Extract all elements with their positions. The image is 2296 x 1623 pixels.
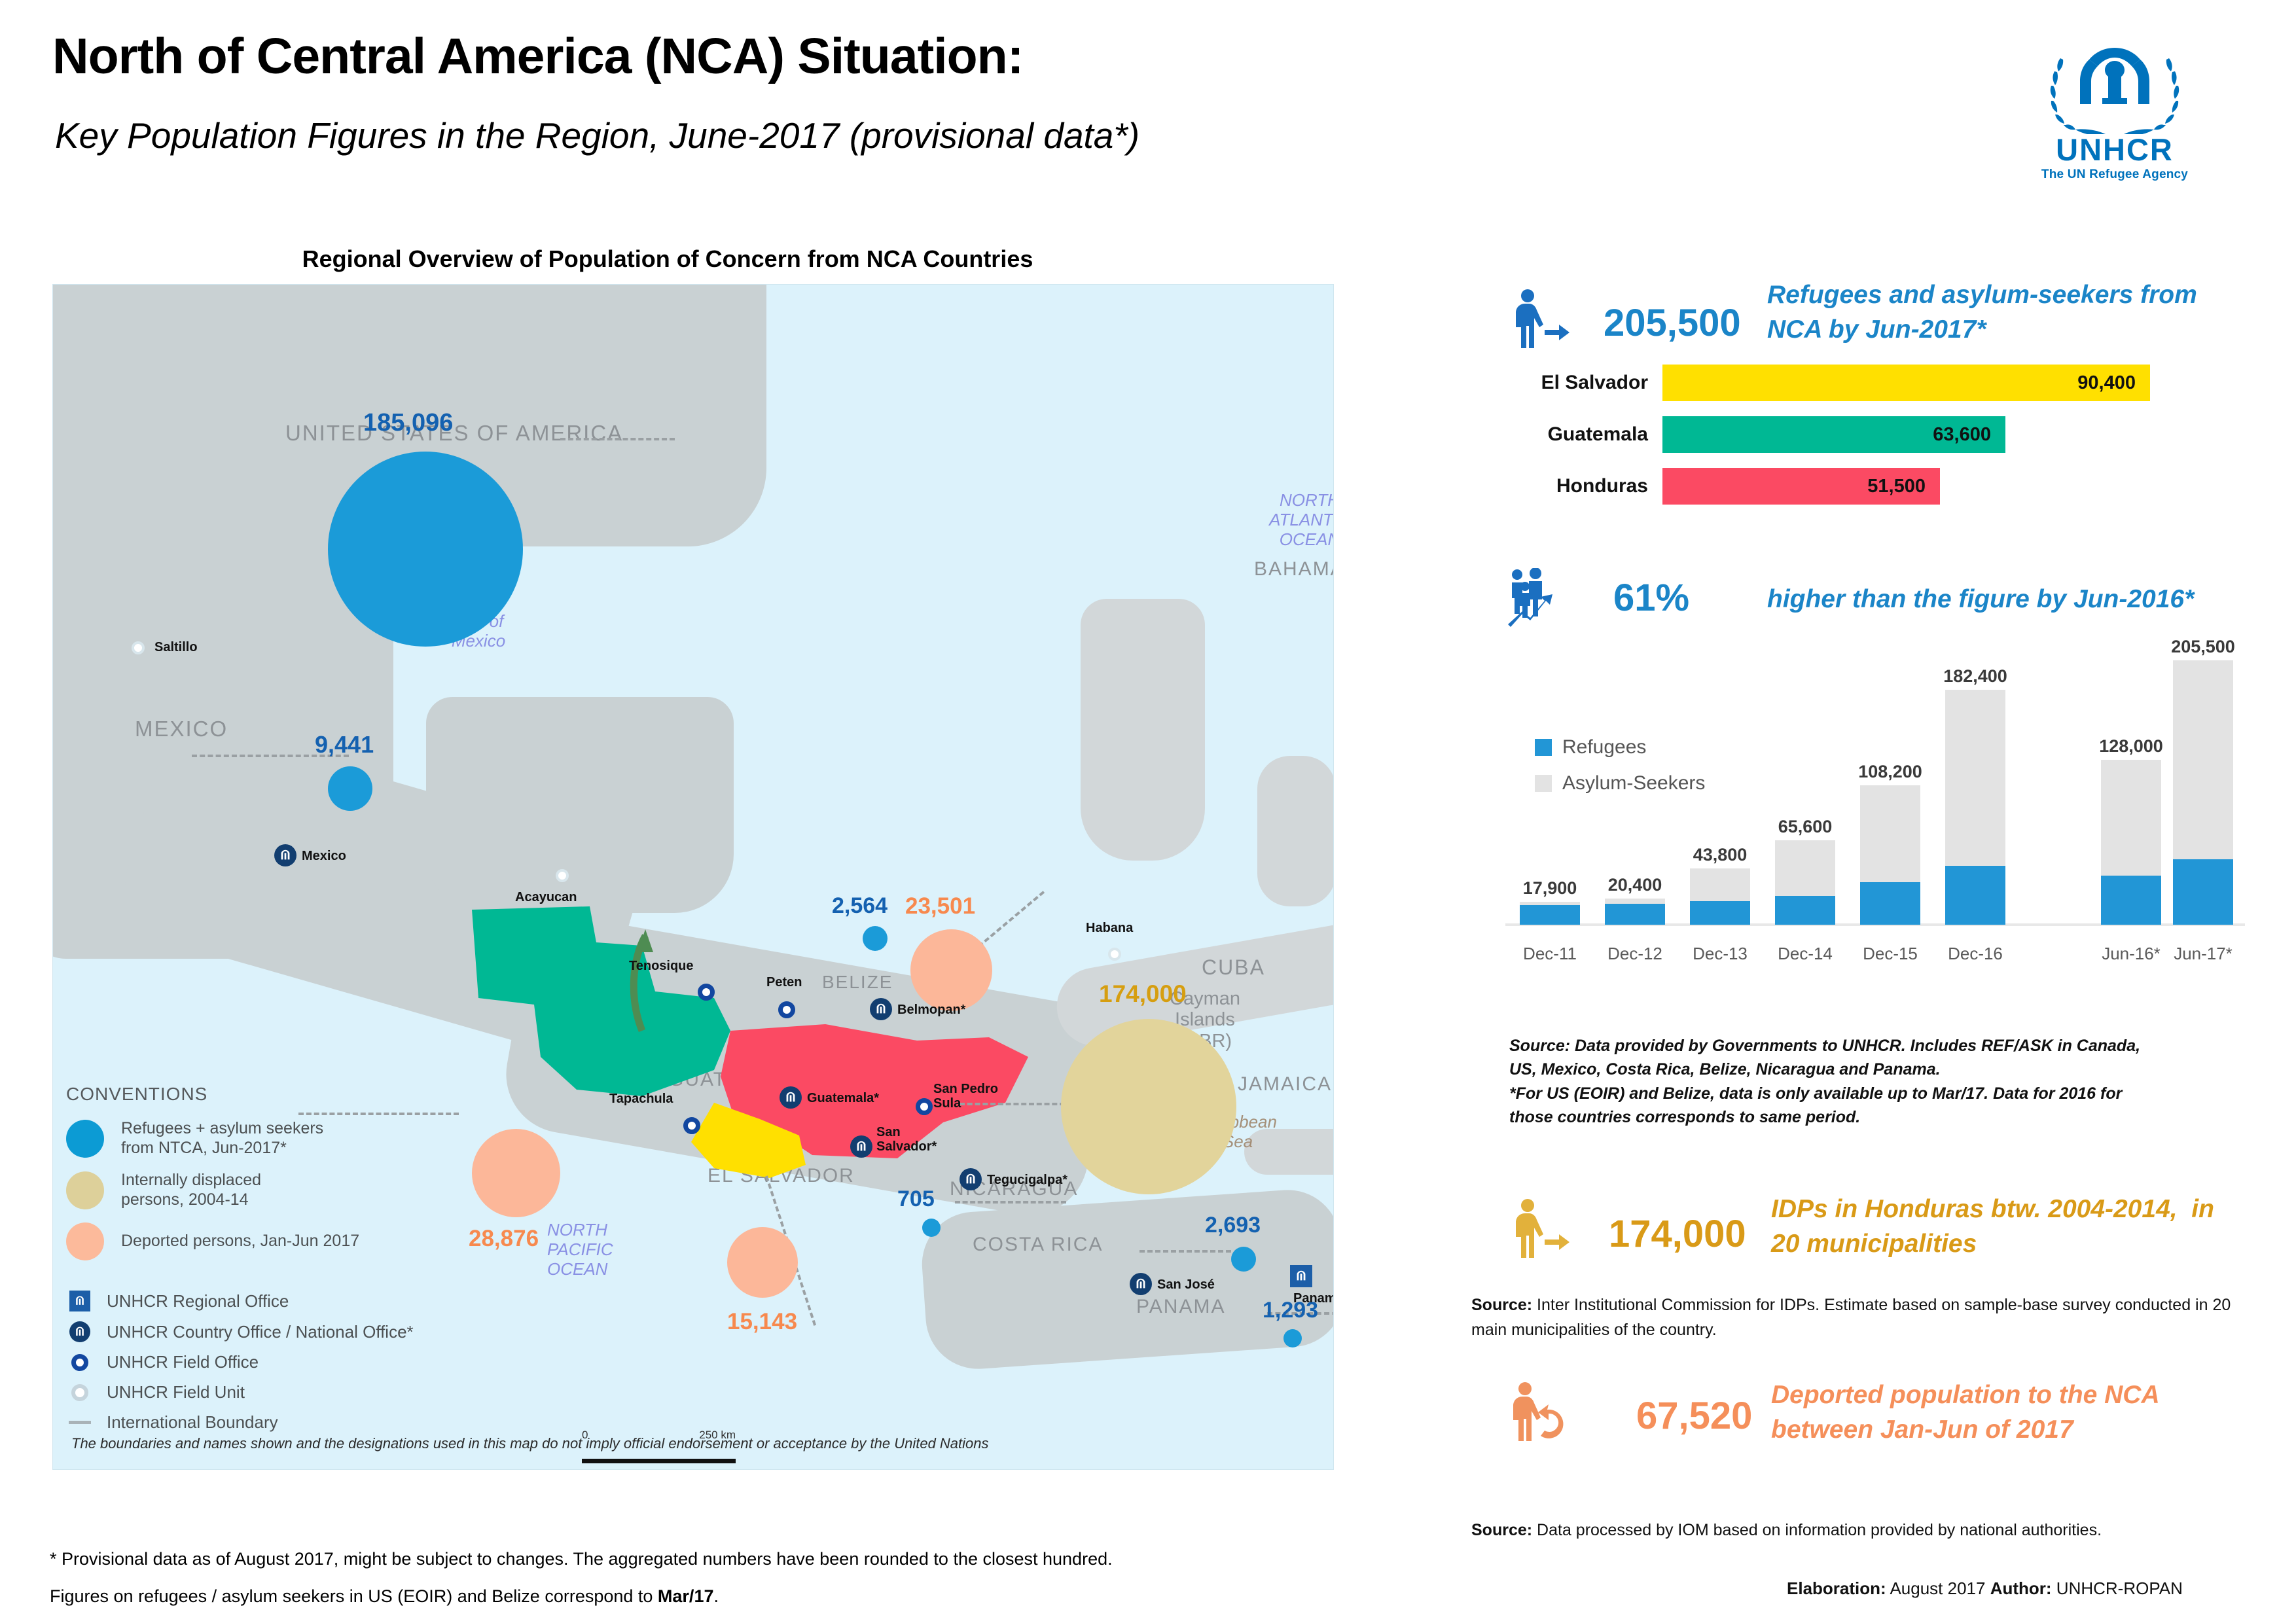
footnote-mar17-c: . [713, 1586, 719, 1606]
chart-value-dec15: 108,200 [1825, 762, 1956, 782]
legend-item-boundary: International Boundary [66, 1412, 564, 1433]
city-label-peten: Peten [766, 975, 802, 990]
country-bar-value-guatemala: 63,600 [1933, 424, 1991, 446]
chart-segment-refugees-dec14 [1775, 896, 1835, 925]
legend-title: CONVENTIONS [66, 1084, 564, 1105]
chart-xtick-dec11: Dec-11 [1501, 944, 1599, 964]
unhcr-mark-icon [874, 1002, 888, 1016]
walking-person-arrow-icon [1505, 1198, 1571, 1260]
unhcr-logo: UNHCR The UN Refugee Agency [2026, 36, 2203, 177]
legend-label-refugees: Refugees + asylum seekersfrom NTCA, Jun-… [121, 1119, 323, 1158]
kpi-idp-text: IDPs in Honduras btw. 2004-2014, in20 mu… [1771, 1192, 2282, 1261]
chart-xtick-dec14: Dec-14 [1756, 944, 1854, 964]
leader-line-costarica [1139, 1250, 1231, 1253]
footnote-mar17-b: Mar/17 [658, 1586, 714, 1606]
country-bar-value-elsalvador: 90,400 [2077, 372, 2136, 394]
logo-wordmark: UNHCR [2026, 134, 2203, 165]
field-unit-marker-acayucan[interactable] [556, 869, 569, 882]
legend-label-refugees-series: Refugees [1562, 736, 1646, 758]
field-office-marker-peten[interactable] [778, 1001, 795, 1018]
country-office-marker-tegucigalpa[interactable] [960, 1168, 982, 1190]
country-office-icon [66, 1321, 94, 1342]
kpi-idp-value: 174,000 [1609, 1212, 1746, 1256]
chart-legend-refugees: Refugees [1535, 736, 1646, 758]
family-growth-arrow-icon [1504, 568, 1576, 633]
chart-column-dec16[interactable]: 182,400 [1945, 690, 2005, 925]
chart-segment-asylum-dec12 [1605, 899, 1665, 904]
map-disclaimer: The boundaries and names shown and the d… [71, 1435, 989, 1452]
kpi-idp-source: Source: Inter Institutional Commission f… [1471, 1293, 2244, 1342]
kpi-idp-source-bold: Source: [1471, 1296, 1532, 1314]
kpi-deported-source-bold: Source: [1471, 1521, 1532, 1539]
scale-bar-line [582, 1459, 736, 1463]
kpi-idp-source-text: Inter Institutional Commission for IDPs.… [1471, 1296, 2231, 1339]
chart-segment-asylum-dec15 [1860, 785, 1920, 882]
city-label-belmopan: Belmopan* [897, 1003, 965, 1018]
boundary-line-icon [66, 1421, 94, 1424]
chart-column-jun17[interactable]: 205,500 [2173, 660, 2233, 925]
kpi-deported-text: Deported population to the NCAbetween Ja… [1771, 1378, 2269, 1447]
bubble-elsalvador-deported[interactable] [727, 1227, 798, 1298]
unhcr-mark-icon [278, 848, 293, 863]
footnote-provisional-data: * Provisional data as of August 2017, mi… [50, 1549, 1113, 1569]
chart-segment-refugees-dec15 [1860, 882, 1920, 925]
leader-line-usa [560, 438, 675, 440]
footnote-mar17: Figures on refugees / asylum seekers in … [50, 1586, 719, 1607]
kpi-growth-text: higher than the figure by Jun-2016* [1767, 582, 2265, 617]
chart-xtick-dec16: Dec-16 [1926, 944, 2024, 964]
bubble-honduras-idps[interactable] [1061, 1019, 1236, 1194]
legend-label-regional-office: UNHCR Regional Office [107, 1291, 289, 1311]
bubble-label-mexico-refugees: 9,441 [315, 731, 374, 758]
legend-swatch-deported [66, 1222, 104, 1260]
legend-item-deported: Deported persons, Jan-Jun 2017 [66, 1222, 564, 1260]
legend-item-country-office: UNHCR Country Office / National Office* [66, 1321, 564, 1342]
credit-line: Elaboration: August 2017 Author: UNHCR-R… [1787, 1578, 2183, 1599]
bubble-label-honduras-deported: 23,501 [905, 893, 975, 919]
field-office-marker-tenosique[interactable] [698, 984, 715, 1001]
unhcr-mark-icon [963, 1172, 978, 1186]
timeline-stacked-chart[interactable]: Refugees Asylum-Seekers 17,900 20,400 43… [1505, 661, 2245, 939]
field-office-icon [66, 1354, 94, 1371]
chart-legend-asylum: Asylum-Seekers [1535, 772, 1705, 794]
unhcr-emblem-icon [2026, 36, 2203, 134]
chart-column-dec13[interactable]: 43,800 [1690, 868, 1750, 925]
legend-label-field-office: UNHCR Field Office [107, 1352, 259, 1372]
kpi-deported-value: 67,520 [1636, 1394, 1752, 1438]
city-label-tenosique: Tenosique [629, 959, 694, 974]
field-unit-marker-habana[interactable] [1108, 948, 1121, 961]
credit-author-value: UNHCR-ROPAN [2052, 1578, 2183, 1598]
chart-segment-asylum-dec13 [1690, 868, 1750, 901]
bubble-nicaragua-refugees[interactable] [922, 1219, 941, 1237]
country-bar-label-elsalvador: El Salvador [1525, 372, 1662, 394]
legend-label-idps: Internally displacedpersons, 2004-14 [121, 1171, 261, 1209]
bubble-costarica-refugees[interactable] [1231, 1247, 1256, 1272]
bubble-usa-refugees[interactable] [328, 452, 523, 647]
footnote-mar17-a: Figures on refugees / asylum seekers in … [50, 1586, 658, 1606]
city-label-mexico: Mexico [302, 849, 346, 864]
city-label-saltillo: Saltillo [154, 640, 198, 655]
legend-swatch-refugees [66, 1120, 104, 1158]
chart-xtick-dec15: Dec-15 [1841, 944, 1939, 964]
city-label-sanjose: San José [1157, 1277, 1215, 1293]
map-legend: CONVENTIONS Refugees + asylum seekersfro… [66, 1084, 564, 1442]
bubble-label-belize-refugees: 2,564 [832, 893, 888, 919]
country-office-marker-mexico[interactable] [274, 844, 296, 866]
country-bar-honduras[interactable]: 51,500 [1662, 468, 1940, 505]
logo-tagline: The UN Refugee Agency [2026, 168, 2203, 182]
chart-segment-refugees-dec16 [1945, 866, 2005, 925]
chart-segment-asylum-dec14 [1775, 840, 1835, 896]
chart-column-dec12[interactable]: 20,400 [1605, 899, 1665, 925]
country-bar-row-honduras[interactable]: Honduras 51,500 [1525, 468, 1940, 505]
unhcr-mark-icon [783, 1090, 798, 1105]
credit-author-label: Author: [1990, 1578, 2052, 1598]
regional-office-marker-panama[interactable] [1290, 1265, 1312, 1287]
regional-map[interactable]: Golf ofMexico NORTHATLANTICOCEAN Caribbe… [52, 284, 1334, 1470]
city-label-acayucan: Acayucan [515, 890, 577, 905]
chart-value-jun17: 205,500 [2138, 637, 2269, 657]
field-unit-icon [66, 1384, 94, 1401]
map-title: Regional Overview of Population of Conce… [52, 245, 1283, 273]
chart-segment-refugees-jun17 [2173, 859, 2233, 925]
city-label-panama: Panamá [1293, 1291, 1334, 1306]
chart-segment-asylum-jun17 [2173, 660, 2233, 859]
city-label-tegucigalpa: Tegucigalpa* [987, 1173, 1067, 1188]
kpi-refugees-value: 205,500 [1604, 301, 1741, 345]
chart-value-dec13: 43,800 [1655, 845, 1785, 865]
chart-xtick-dec13: Dec-13 [1671, 944, 1769, 964]
legend-item-field-unit: UNHCR Field Unit [66, 1382, 564, 1402]
country-bar-elsalvador[interactable]: 90,400 [1662, 365, 2150, 401]
city-label-guatemala: Guatemala* [807, 1091, 879, 1106]
walking-person-arrow-icon [1505, 288, 1571, 351]
legend-label-asylum-series: Asylum-Seekers [1562, 772, 1705, 794]
credit-elaboration-label: Elaboration: [1787, 1578, 1886, 1598]
legend-swatch-asylum-series [1535, 775, 1552, 792]
chart-value-dec16: 182,400 [1910, 666, 2041, 687]
city-label-habana: Habana [1086, 921, 1133, 936]
leader-line-nicaragua [955, 1201, 1066, 1204]
chart-column-dec11[interactable]: 17,900 [1520, 902, 1580, 925]
kpi-growth-value: 61% [1613, 576, 1689, 620]
bubble-belize-refugees[interactable] [863, 926, 888, 951]
legend-item-idps: Internally displacedpersons, 2004-14 [66, 1171, 564, 1209]
legend-swatch-idps [66, 1171, 104, 1209]
page-subtitle: Key Population Figures in the Region, Ju… [55, 115, 1139, 156]
page-title: North of Central America (NCA) Situation… [52, 27, 1023, 86]
country-office-marker-sanjose[interactable] [1130, 1273, 1152, 1295]
legend-item-refugees: Refugees + asylum seekersfrom NTCA, Jun-… [66, 1119, 564, 1158]
chart-segment-refugees-jun16 [2101, 876, 2161, 925]
unhcr-mark-icon [1134, 1277, 1148, 1291]
field-office-marker-tapachula[interactable] [683, 1117, 700, 1134]
bubble-label-honduras-idps: 174,000 [1099, 980, 1187, 1008]
chart-segment-refugees-dec11 [1520, 905, 1580, 925]
walking-person-return-icon [1505, 1381, 1571, 1444]
legend-item-field-office: UNHCR Field Office [66, 1352, 564, 1372]
bubble-label-elsalvador-deported: 15,143 [727, 1309, 797, 1335]
chart-xtick-dec12: Dec-12 [1586, 944, 1684, 964]
legend-label-deported: Deported persons, Jan-Jun 2017 [121, 1232, 359, 1251]
field-office-marker-sanpedrosula[interactable] [916, 1098, 933, 1115]
country-office-marker-sansalvador[interactable] [850, 1135, 872, 1158]
city-label-tapachula: Tapachula [609, 1092, 673, 1107]
legend-swatch-refugees-series [1535, 739, 1552, 756]
country-bar-label-guatemala: Guatemala [1525, 423, 1662, 446]
country-bar-row-guatemala[interactable]: Guatemala 63,600 [1525, 416, 2005, 453]
bubble-honduras-deported[interactable] [910, 929, 992, 1011]
legend-label-country-office: UNHCR Country Office / National Office* [107, 1322, 414, 1342]
chart-column-jun16[interactable]: 128,000 [2101, 760, 2161, 925]
country-bar-label-honduras: Honduras [1525, 475, 1662, 497]
field-unit-marker-saltillo[interactable] [132, 641, 145, 654]
kpi-refugees-text: Refugees and asylum-seekers fromNCA by J… [1767, 278, 2238, 347]
bubble-panama-refugees[interactable] [1283, 1329, 1302, 1347]
chart-xtick-jun17: Jun-17* [2154, 944, 2252, 964]
chart-value-dec12: 20,400 [1570, 875, 1700, 895]
city-label-sanpedrosula: San PedroSula [933, 1082, 998, 1111]
chart-column-dec15[interactable]: 108,200 [1860, 785, 1920, 925]
legend-label-boundary: International Boundary [107, 1412, 278, 1433]
kpi-deported-source-text: Data processed by IOM based on informati… [1532, 1521, 2102, 1539]
country-bar-row-elsalvador[interactable]: El Salvador 90,400 [1525, 365, 2150, 401]
chart-segment-asylum-jun16 [2101, 760, 2161, 876]
chart-segment-refugees-dec13 [1690, 901, 1750, 925]
bubble-label-costarica-refugees: 2,693 [1205, 1213, 1261, 1238]
legend-label-field-unit: UNHCR Field Unit [107, 1382, 245, 1402]
credit-elaboration-value: August 2017 [1886, 1578, 1990, 1598]
country-office-marker-belmopan[interactable] [870, 998, 892, 1020]
bubble-label-nicaragua-refugees: 705 [897, 1186, 935, 1212]
chart-column-dec14[interactable]: 65,600 [1775, 840, 1835, 925]
unhcr-mark-icon [1294, 1269, 1308, 1283]
chart-segment-asylum-dec16 [1945, 690, 2005, 866]
bubble-mexico-refugees[interactable] [328, 766, 372, 811]
chart-source-note: Source: Data provided by Governments to … [1509, 1034, 2242, 1129]
bubble-label-usa-refugees: 185,096 [363, 409, 453, 437]
chart-value-dec14: 65,600 [1740, 817, 1871, 837]
kpi-deported-source: Source: Data processed by IOM based on i… [1471, 1518, 2244, 1543]
city-label-sansalvador: SanSalvador* [876, 1125, 937, 1154]
country-bar-value-honduras: 51,500 [1867, 476, 1926, 497]
chart-segment-refugees-dec12 [1605, 904, 1665, 925]
country-office-marker-guatemala[interactable] [780, 1086, 802, 1109]
regional-office-icon [66, 1291, 94, 1311]
unhcr-mark-icon [854, 1139, 869, 1154]
country-bar-guatemala[interactable]: 63,600 [1662, 416, 2005, 453]
legend-item-regional-office: UNHCR Regional Office [66, 1291, 564, 1311]
